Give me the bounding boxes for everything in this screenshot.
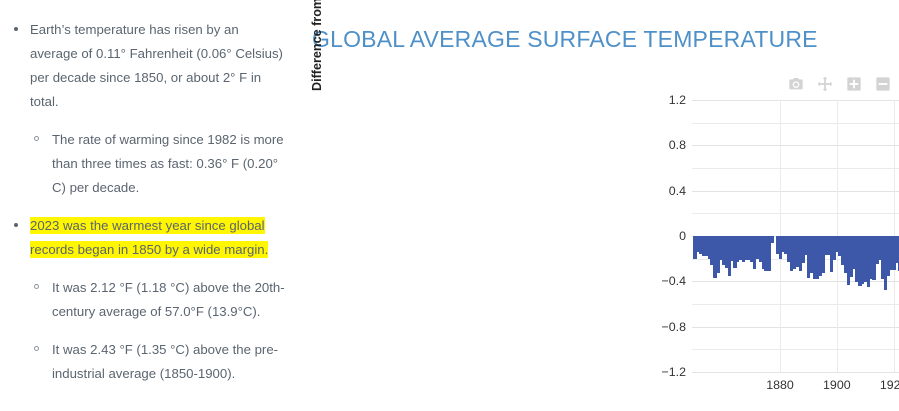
gridline-horizontal	[692, 100, 899, 101]
note-text: 2023 was the warmest year since global r…	[30, 217, 268, 258]
plot-wrapper: Difference from 1901-2000 average (°C) 1…	[300, 0, 899, 411]
x-tick-label: 1900	[823, 378, 851, 392]
gridline-horizontal	[692, 191, 899, 192]
x-axis-ticks: 18801900192019401960198020002020	[692, 378, 899, 396]
y-tick-label: −0.8	[642, 320, 686, 334]
y-tick-label: −0.4	[642, 274, 686, 288]
y-tick-label: −1.2	[642, 365, 686, 379]
y-tick-label: 0	[642, 229, 686, 243]
gridline-horizontal	[692, 327, 899, 328]
note-text: It was 2.43 °F (1.35 °C) above the pre-i…	[52, 342, 278, 381]
note-item: Earth’s temperature has risen by an aver…	[8, 18, 286, 114]
x-tick-label: 1880	[766, 378, 794, 392]
note-text: Earth’s temperature has risen by an aver…	[30, 22, 283, 109]
gridline-minor-horizontal	[692, 123, 899, 124]
bullet-circle-icon	[34, 284, 39, 289]
y-tick-label: 0.8	[642, 138, 686, 152]
note-text: It was 2.12 °F (1.18 °C) above the 20th-…	[52, 280, 285, 319]
gridline-minor-horizontal	[692, 213, 899, 214]
y-axis-ticks: 1.20.80.40−0.4−0.8−1.2	[640, 100, 686, 372]
y-tick-label: 0.4	[642, 184, 686, 198]
bullet-circle-icon	[34, 346, 39, 351]
notes-panel: Earth’s temperature has risen by an aver…	[0, 0, 300, 411]
note-text: The rate of warming since 1982 is more t…	[52, 132, 284, 195]
x-tick-label: 1920	[880, 378, 899, 392]
plot-area[interactable]	[692, 100, 899, 372]
gridline-minor-horizontal	[692, 168, 899, 169]
gridline-horizontal	[692, 372, 899, 373]
y-axis-label: Difference from 1901-2000 average (°C)	[308, 0, 326, 114]
chart-panel: GLOBAL AVERAGE SURFACE TEMPERATURE	[300, 0, 899, 411]
gridline-minor-horizontal	[692, 304, 899, 305]
note-item: It was 2.12 °F (1.18 °C) above the 20th-…	[8, 276, 286, 324]
note-item: It was 2.43 °F (1.35 °C) above the pre-i…	[8, 338, 286, 386]
gridline-minor-horizontal	[692, 349, 899, 350]
page-root: Earth’s temperature has risen by an aver…	[0, 0, 899, 411]
gridline-horizontal	[692, 145, 899, 146]
note-item: The rate of warming since 1982 is more t…	[8, 128, 286, 200]
y-tick-label: 1.2	[642, 93, 686, 107]
bar[interactable]	[770, 236, 773, 243]
bullet-circle-icon	[34, 136, 39, 141]
bullet-disc-icon	[14, 223, 18, 227]
bullet-disc-icon	[14, 27, 18, 31]
note-item: 2023 was the warmest year since global r…	[8, 214, 286, 262]
